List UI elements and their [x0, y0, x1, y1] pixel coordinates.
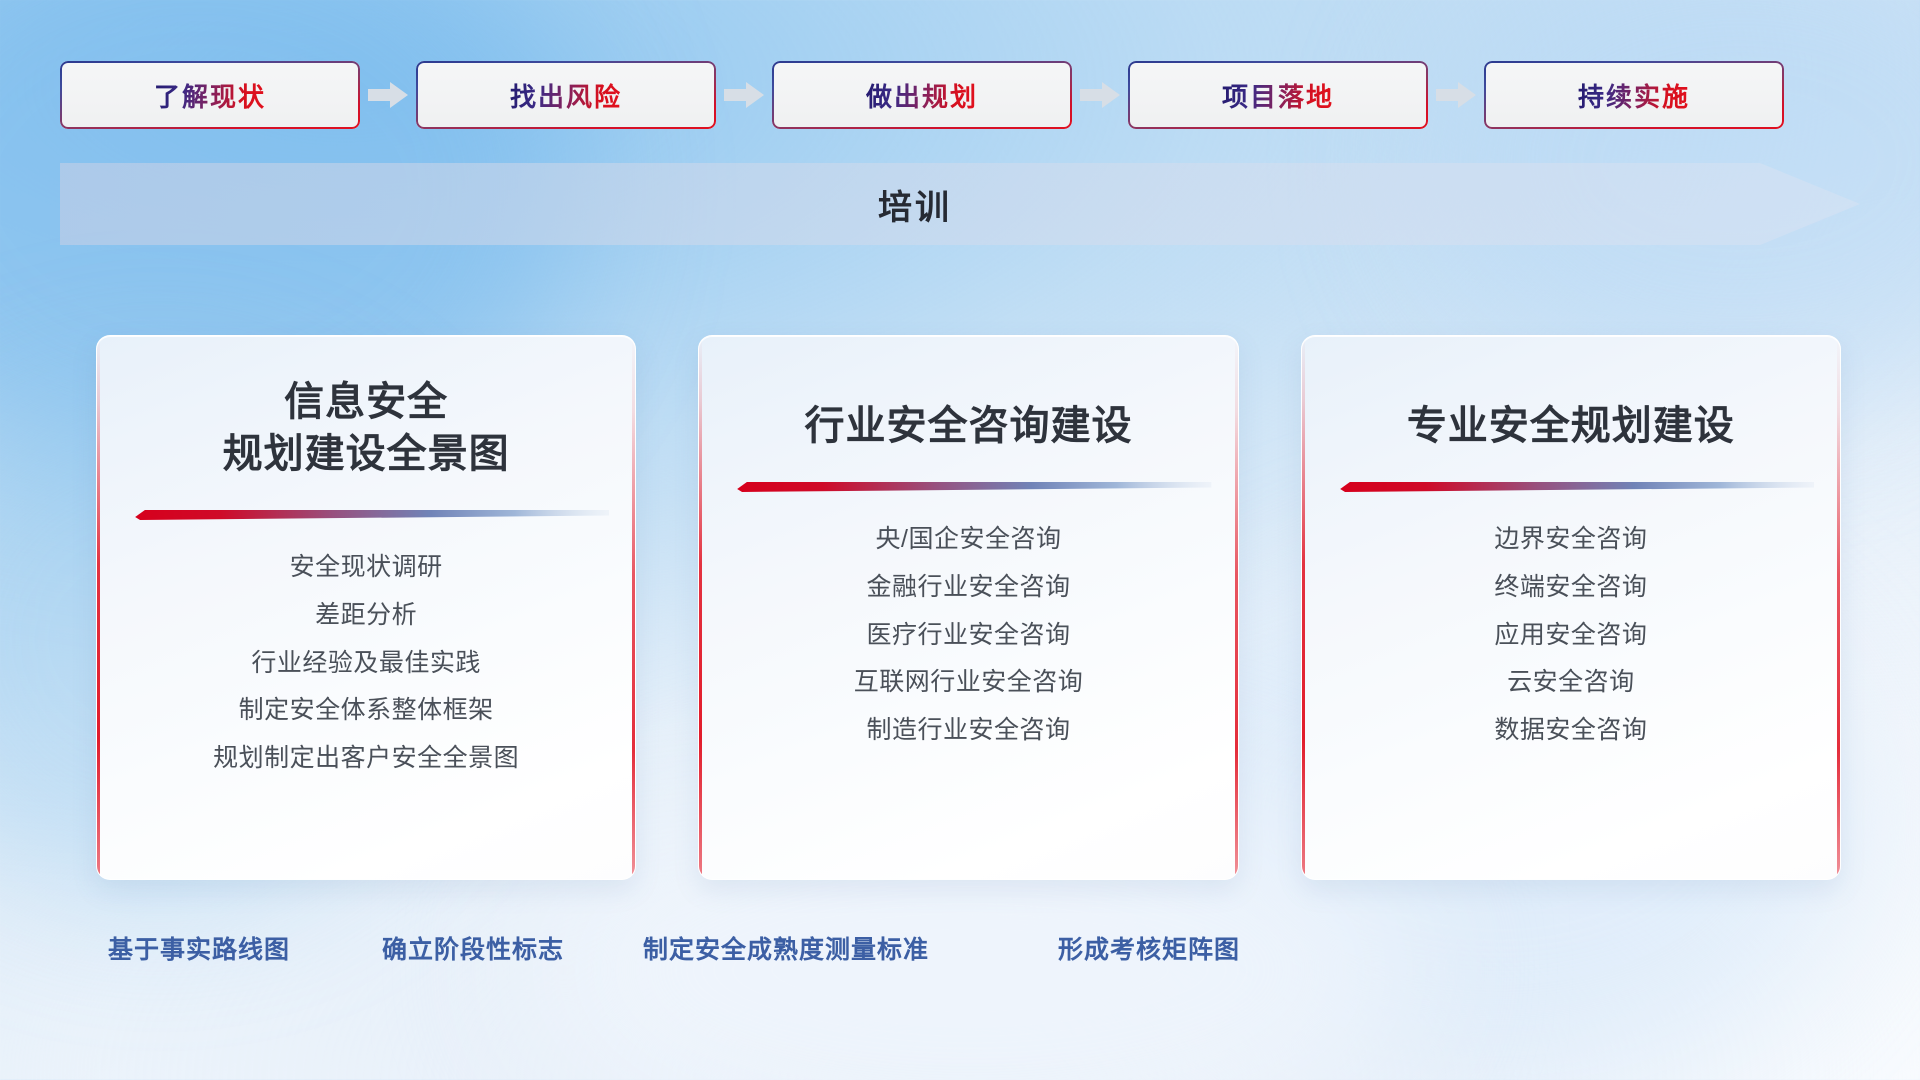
card-divider: [123, 506, 609, 522]
list-item: 金融行业安全咨询: [866, 568, 1070, 607]
card-item-list: 安全现状调研 差距分析 行业经验及最佳实践 制定安全体系整体框架 规划制定出客户…: [213, 548, 519, 778]
card-item-list: 边界安全咨询 终端安全咨询 应用安全咨询 云安全咨询 数据安全咨询: [1494, 520, 1647, 750]
card-divider: [725, 478, 1211, 494]
card-item-list: 央/国企安全咨询 金融行业安全咨询 医疗行业安全咨询 互联网行业安全咨询 制造行…: [854, 520, 1084, 750]
list-item: 数据安全咨询: [1494, 711, 1647, 750]
outcome-label-1: 基于事实路线图: [108, 930, 290, 966]
list-item: 制造行业安全咨询: [866, 711, 1070, 750]
list-item: 差距分析: [315, 596, 417, 635]
outcome-label-3: 制定安全成熟度测量标准: [643, 930, 929, 966]
list-item: 云安全咨询: [1507, 663, 1635, 702]
list-item: 互联网行业安全咨询: [854, 663, 1084, 702]
slide-stage: 了解现状 找出风险 做出规划 项目落地: [0, 0, 1920, 1080]
process-step-1-label: 了解现状: [154, 77, 266, 114]
chevron-right-icon: [368, 80, 408, 110]
list-item: 央/国企安全咨询: [876, 520, 1062, 559]
card-divider: [1328, 478, 1814, 494]
list-item: 终端安全咨询: [1494, 568, 1647, 607]
card-title: 行业安全咨询建设: [804, 400, 1132, 452]
card-title: 专业安全规划建设: [1407, 400, 1735, 452]
step-arrow-separator-4: [1428, 80, 1484, 110]
step-arrow-separator-3: [1072, 80, 1128, 110]
gradient-rule-icon: [123, 506, 609, 522]
training-banner: 培训: [60, 163, 1860, 245]
card-industry-security-consulting[interactable]: 行业安全咨询建设: [698, 335, 1238, 880]
outcome-label-4: 形成考核矩阵图: [1058, 930, 1240, 966]
outcome-label-2: 确立阶段性标志: [382, 930, 564, 966]
outcome-label-row: 基于事实路线图 确立阶段性标志 制定安全成熟度测量标准 形成考核矩阵图: [0, 930, 1920, 980]
process-step-3[interactable]: 做出规划: [772, 61, 1072, 129]
list-item: 安全现状调研: [290, 548, 443, 587]
process-step-2[interactable]: 找出风险: [416, 61, 716, 129]
step-arrow-separator-2: [716, 80, 772, 110]
gradient-rule-icon: [1328, 478, 1814, 494]
gradient-rule-icon: [725, 478, 1211, 494]
chevron-right-icon: [1436, 80, 1476, 110]
process-step-1[interactable]: 了解现状: [60, 61, 360, 129]
card-title: 信息安全 规划建设全景图: [223, 376, 510, 480]
chevron-right-icon: [724, 80, 764, 110]
process-step-4[interactable]: 项目落地: [1128, 61, 1428, 129]
process-step-5[interactable]: 持续实施: [1484, 61, 1784, 129]
card-professional-security-planning[interactable]: 专业安全规划建设: [1301, 335, 1841, 880]
card-information-security-blueprint[interactable]: 信息安全 规划建设全景图: [96, 335, 636, 880]
banner-title: 培训: [60, 163, 1860, 245]
list-item: 边界安全咨询: [1494, 520, 1647, 559]
step-arrow-separator-1: [360, 80, 416, 110]
process-step-4-label: 项目落地: [1222, 77, 1334, 114]
list-item: 行业经验及最佳实践: [251, 644, 481, 683]
list-item: 制定安全体系整体框架: [239, 691, 494, 730]
list-item: 应用安全咨询: [1494, 616, 1647, 655]
process-step-3-label: 做出规划: [866, 77, 978, 114]
process-step-5-label: 持续实施: [1578, 77, 1690, 114]
process-step-2-label: 找出风险: [510, 77, 622, 114]
card-row: 信息安全 规划建设全景图: [96, 335, 1841, 880]
list-item: 医疗行业安全咨询: [866, 616, 1070, 655]
process-step-row: 了解现状 找出风险 做出规划 项目落地: [60, 60, 1860, 130]
list-item: 规划制定出客户安全全景图: [213, 739, 519, 778]
chevron-right-icon: [1080, 80, 1120, 110]
